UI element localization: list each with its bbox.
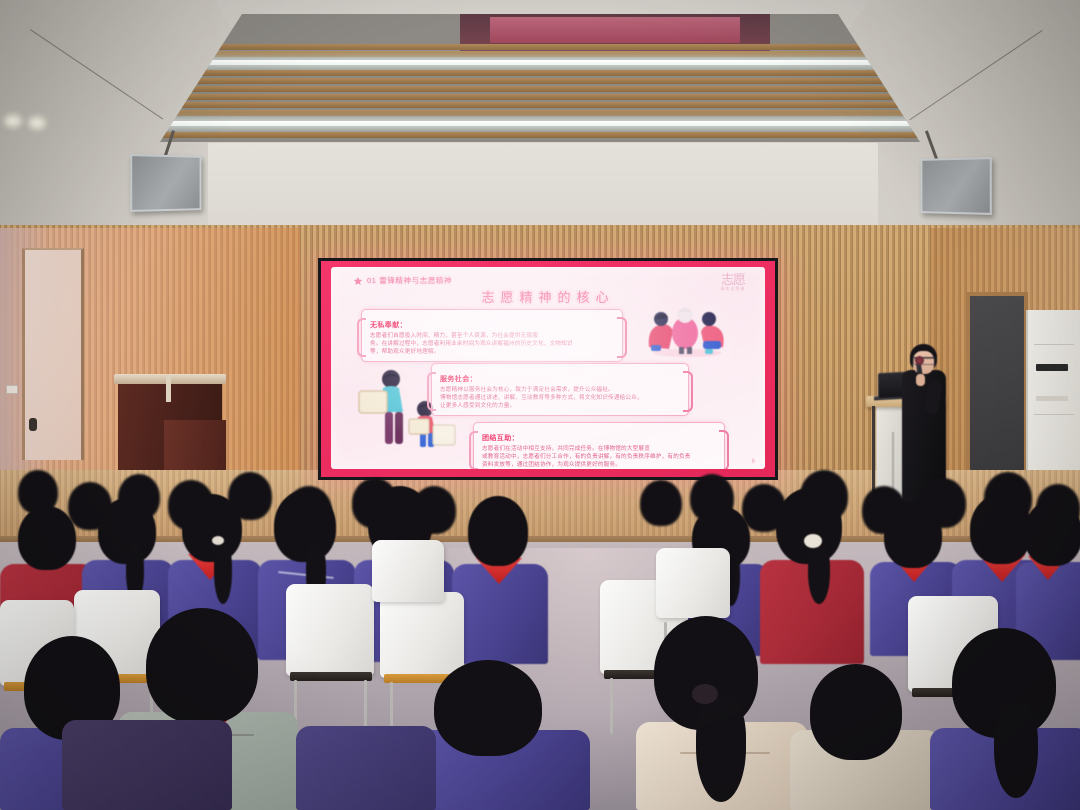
ceiling-speaker-left: [130, 154, 201, 212]
callout-heading: 团结互助：: [482, 435, 519, 442]
ponytail: [696, 694, 746, 802]
callout-line: 资料发放等，通过团结协作，为观众提供更好的服务。: [482, 461, 716, 469]
student: [790, 664, 940, 810]
ceiling-slat: [208, 44, 872, 50]
chair-backrest: [656, 548, 730, 618]
slide-callout-selfless-dedication: 无私奉献： 志愿者们自愿投入时间、精力，甚至个人资源，为社会提供无偿服 务。在讲…: [361, 309, 623, 362]
microphone-head: [915, 356, 924, 365]
student-head: [182, 494, 242, 562]
student-jacket: [296, 726, 436, 810]
chair[interactable]: [286, 584, 374, 676]
ceiling-slat: [160, 132, 920, 138]
chair-seat: [290, 672, 372, 681]
side-door[interactable]: [22, 248, 84, 460]
callout-line: 志愿者们在活动中相互支持，共同完成任务。在博物馆的大型展览: [482, 445, 716, 453]
air-conditioner-cabinet: [1026, 310, 1080, 490]
slide-callout-serve-society: 服务社会： 志愿精神以服务社会为核心，致力于满足社会需求，提升公众福祉。 博物馆…: [431, 363, 689, 416]
student-head: [468, 496, 528, 566]
chair[interactable]: [372, 540, 444, 602]
door-knob[interactable]: [29, 418, 37, 431]
rear-doorway[interactable]: [966, 292, 1028, 482]
student: [636, 616, 808, 810]
projection-screen: 01 雷锋精神与志愿精神 志愿 青年志愿者 志愿精神的核心: [318, 258, 778, 480]
piano-lid: [114, 374, 226, 384]
light-switch-plate[interactable]: [6, 385, 18, 394]
ceiling-slat: [180, 86, 900, 92]
slide-page-number: 6: [752, 459, 755, 465]
callout-heading: 无私奉献：: [370, 322, 407, 329]
ponytail: [214, 542, 232, 604]
ac-seam: [1034, 344, 1074, 345]
screen-surface: 01 雷锋精神与志愿精神 志愿 青年志愿者 志愿精神的核心: [321, 261, 775, 477]
student-head: [434, 660, 542, 756]
ac-grille: [1036, 396, 1068, 401]
chair-leg: [610, 678, 613, 734]
ponytail: [808, 542, 830, 604]
callout-line: 博物馆志愿者通过讲述、讲解、互动教育等多种方式，将文化知识传递给公众，: [440, 394, 680, 402]
ponytail: [994, 702, 1038, 798]
student-head: [640, 480, 682, 526]
ceiling-light-strip: [162, 121, 918, 126]
callout-line: 志愿精神以服务社会为核心，致力于满足社会需求，提升公众福祉。: [440, 386, 680, 394]
slide-kicker: 01 雷锋精神与志愿精神: [353, 275, 452, 286]
student: [452, 496, 548, 664]
downlight: [30, 118, 44, 128]
ceiling-soffit-face: [208, 143, 878, 232]
ceiling-slat: [175, 94, 905, 100]
piano-cloth-tassel: [166, 376, 171, 402]
ceiling-slat: [166, 110, 914, 116]
ceiling-slat: [185, 78, 895, 84]
callout-line: 志愿者们自愿投入时间、精力，甚至个人资源，为社会提供无偿服: [370, 332, 614, 340]
ceiling-slat: [190, 70, 890, 76]
chair-backrest: [372, 540, 444, 602]
hair-scrunchie: [804, 534, 822, 548]
student: [410, 660, 590, 810]
callout-heading: 服务社会：: [440, 376, 477, 383]
illustration-volunteers-helping-elderly: [641, 297, 733, 359]
student: [62, 700, 232, 810]
callout-line: 让更多人感受到文化的力量。: [440, 402, 680, 410]
student: [296, 700, 436, 810]
student-head: [810, 664, 902, 760]
presentation-slide: 01 雷锋精神与志愿精神 志愿 青年志愿者 志愿精神的核心: [331, 267, 765, 469]
ceiling-speaker-right: [921, 157, 992, 215]
student-head: [884, 502, 942, 568]
chair[interactable]: [656, 548, 730, 618]
star-icon: [353, 276, 363, 286]
slide-kicker-text: 01 雷锋精神与志愿精神: [367, 275, 452, 286]
ceiling: [0, 0, 1080, 232]
ceiling-slat: [202, 51, 878, 57]
callout-line: 等，帮助观众更好地理解。: [370, 348, 614, 356]
student: [930, 628, 1080, 810]
ac-display-panel: [1036, 364, 1068, 371]
coffer-reflection: [490, 17, 740, 43]
hair-tie: [692, 684, 718, 704]
ac-seam: [1034, 414, 1074, 415]
auditorium-presentation-photo: 01 雷锋精神与志愿精神 志愿 青年志愿者 志愿精神的核心: [0, 0, 1080, 810]
callout-line: 务。在讲解过程中，志愿者利用业余时间为观众讲解福州的历史文化、文物知识: [370, 340, 614, 348]
brand-mark: 志愿: [713, 273, 753, 286]
student-head: [18, 506, 76, 570]
student-head: [274, 490, 336, 562]
downlight: [6, 116, 20, 126]
callout-line: 或教育活动中，志愿者们分工合作，有的负责讲解，有的负责秩序维护，有的负责: [482, 453, 716, 461]
slide-callout-solidarity-mutual-aid: 团结互助： 志愿者们在活动中相互支持，共同完成任务。在博物馆的大型展览 或教育活…: [473, 422, 725, 469]
student-head: [1024, 500, 1080, 566]
ceiling-light-strip: [194, 60, 886, 65]
hair-tie: [212, 536, 224, 545]
presenter-hand: [916, 374, 925, 386]
ceiling-slat: [170, 102, 910, 108]
ceiling-coffer: [160, 14, 920, 142]
chair-backrest: [286, 584, 374, 676]
student-jacket: [62, 720, 232, 810]
